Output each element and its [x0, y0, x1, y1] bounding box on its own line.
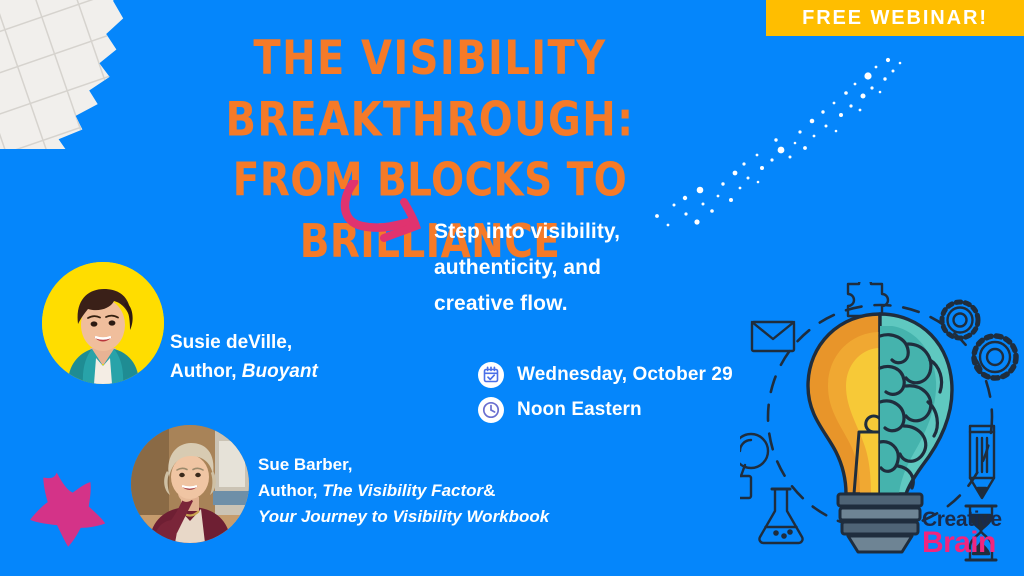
webinar-flyer: FREE WEBINAR! The Visibility Breakthroug… [0, 0, 1024, 576]
title-line-2: Breakthrough: [150, 89, 710, 150]
subtitle-line-3: creative flow. [434, 286, 714, 322]
gear-icon [942, 302, 978, 338]
subtitle: Step into visibility, authenticity, and … [434, 214, 714, 322]
pencil-icon [970, 426, 994, 498]
banner-label: FREE WEBINAR! [802, 7, 988, 30]
speaker-2-role-prefix: Author, [258, 481, 318, 500]
event-details: Wednesday, October 29 Noon Eastern [478, 357, 733, 427]
avatar-sue-barber [131, 425, 249, 543]
speaker-2-role: Author, The Visibility Factor& [258, 478, 549, 504]
speaker-2-name: Sue Barber, [258, 452, 549, 478]
calendar-icon [478, 362, 504, 388]
logo-line-2: Brain [922, 528, 1002, 558]
speaker-2-book-1: The Visibility Factor [322, 481, 483, 500]
event-date: Wednesday, October 29 [517, 364, 733, 386]
clock-icon [478, 397, 504, 423]
speaker-1-book: Buoyant [242, 361, 318, 382]
pink-star [18, 456, 110, 548]
speaker-1-name: Susie deVille, [170, 328, 318, 357]
brand-logo: Creative Brain [922, 509, 1002, 558]
avatar-susie-deville [42, 262, 164, 384]
speaker-1-role-prefix: Author, [170, 361, 237, 382]
title-line-1: The Visibility [150, 28, 710, 89]
speaker-1-role: Author, Buoyant [170, 357, 318, 386]
speaker-2-book-2: Your Journey to Visibility Workbook [258, 507, 549, 526]
event-time-row: Noon Eastern [478, 392, 733, 427]
speaker-2-conjunction: & [483, 481, 495, 500]
speaker-1-info: Susie deVille, Author, Buoyant [170, 328, 318, 386]
subtitle-line-1: Step into visibility, [434, 214, 714, 250]
puzzle-piece-icon [848, 282, 888, 316]
magnifier-icon [740, 434, 768, 498]
flask-icon [759, 489, 802, 543]
pink-curved-arrow [332, 180, 442, 258]
speaker-2-book-2-line: Your Journey to Visibility Workbook [258, 504, 549, 530]
event-time: Noon Eastern [517, 399, 642, 421]
envelope-icon [752, 322, 794, 351]
event-date-row: Wednesday, October 29 [478, 357, 733, 392]
free-webinar-banner: FREE WEBINAR! [766, 0, 1024, 36]
subtitle-line-2: authenticity, and [434, 250, 714, 286]
gear-icon [974, 336, 1016, 378]
speaker-2-info: Sue Barber, Author, The Visibility Facto… [258, 452, 549, 530]
torn-graph-paper [0, 0, 130, 149]
graph-paper-grid [0, 0, 130, 149]
